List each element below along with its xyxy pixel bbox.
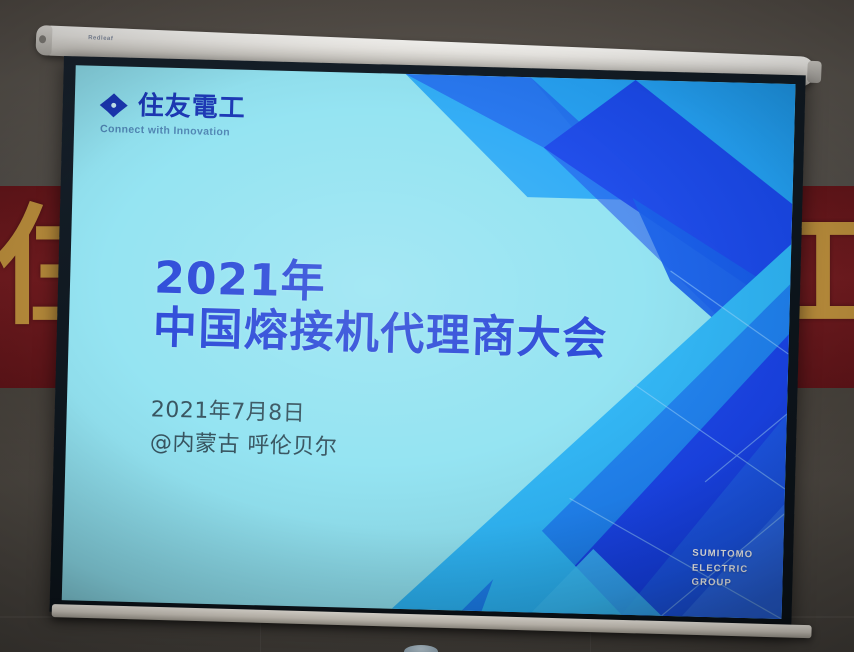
brand-header: 住友電工 Connect with Innovation bbox=[98, 92, 246, 139]
presentation-slide: 住友電工 Connect with Innovation 2021年 中国熔接机… bbox=[62, 65, 796, 619]
slide-subtitle: 2021年7月8日 @内蒙古 呼伦贝尔 bbox=[149, 393, 338, 464]
subtitle-date: 2021年7月8日 bbox=[150, 393, 338, 431]
projection-screen: 住友電工 Connect with Innovation 2021年 中国熔接机… bbox=[49, 56, 805, 631]
wordmark-line-2: ELECTRIC bbox=[692, 561, 753, 577]
slide-title: 2021年 中国熔接机代理商大会 bbox=[152, 253, 609, 366]
housing-end-cap bbox=[35, 25, 52, 56]
sumitomo-diamond-icon bbox=[98, 92, 129, 119]
housing-end-right bbox=[807, 61, 822, 84]
foreground-object bbox=[404, 645, 438, 652]
brand-name: 住友電工 bbox=[137, 93, 246, 122]
corner-wordmark: SUMITOMO ELECTRIC GROUP bbox=[691, 546, 753, 592]
wordmark-line-1: SUMITOMO bbox=[692, 546, 753, 562]
subtitle-location: @内蒙古 呼伦贝尔 bbox=[149, 426, 337, 464]
housing-brand-label: Redleaf bbox=[88, 35, 113, 42]
conference-room-photo: 住 江 Redleaf bbox=[0, 0, 854, 652]
wordmark-line-3: GROUP bbox=[691, 576, 752, 592]
